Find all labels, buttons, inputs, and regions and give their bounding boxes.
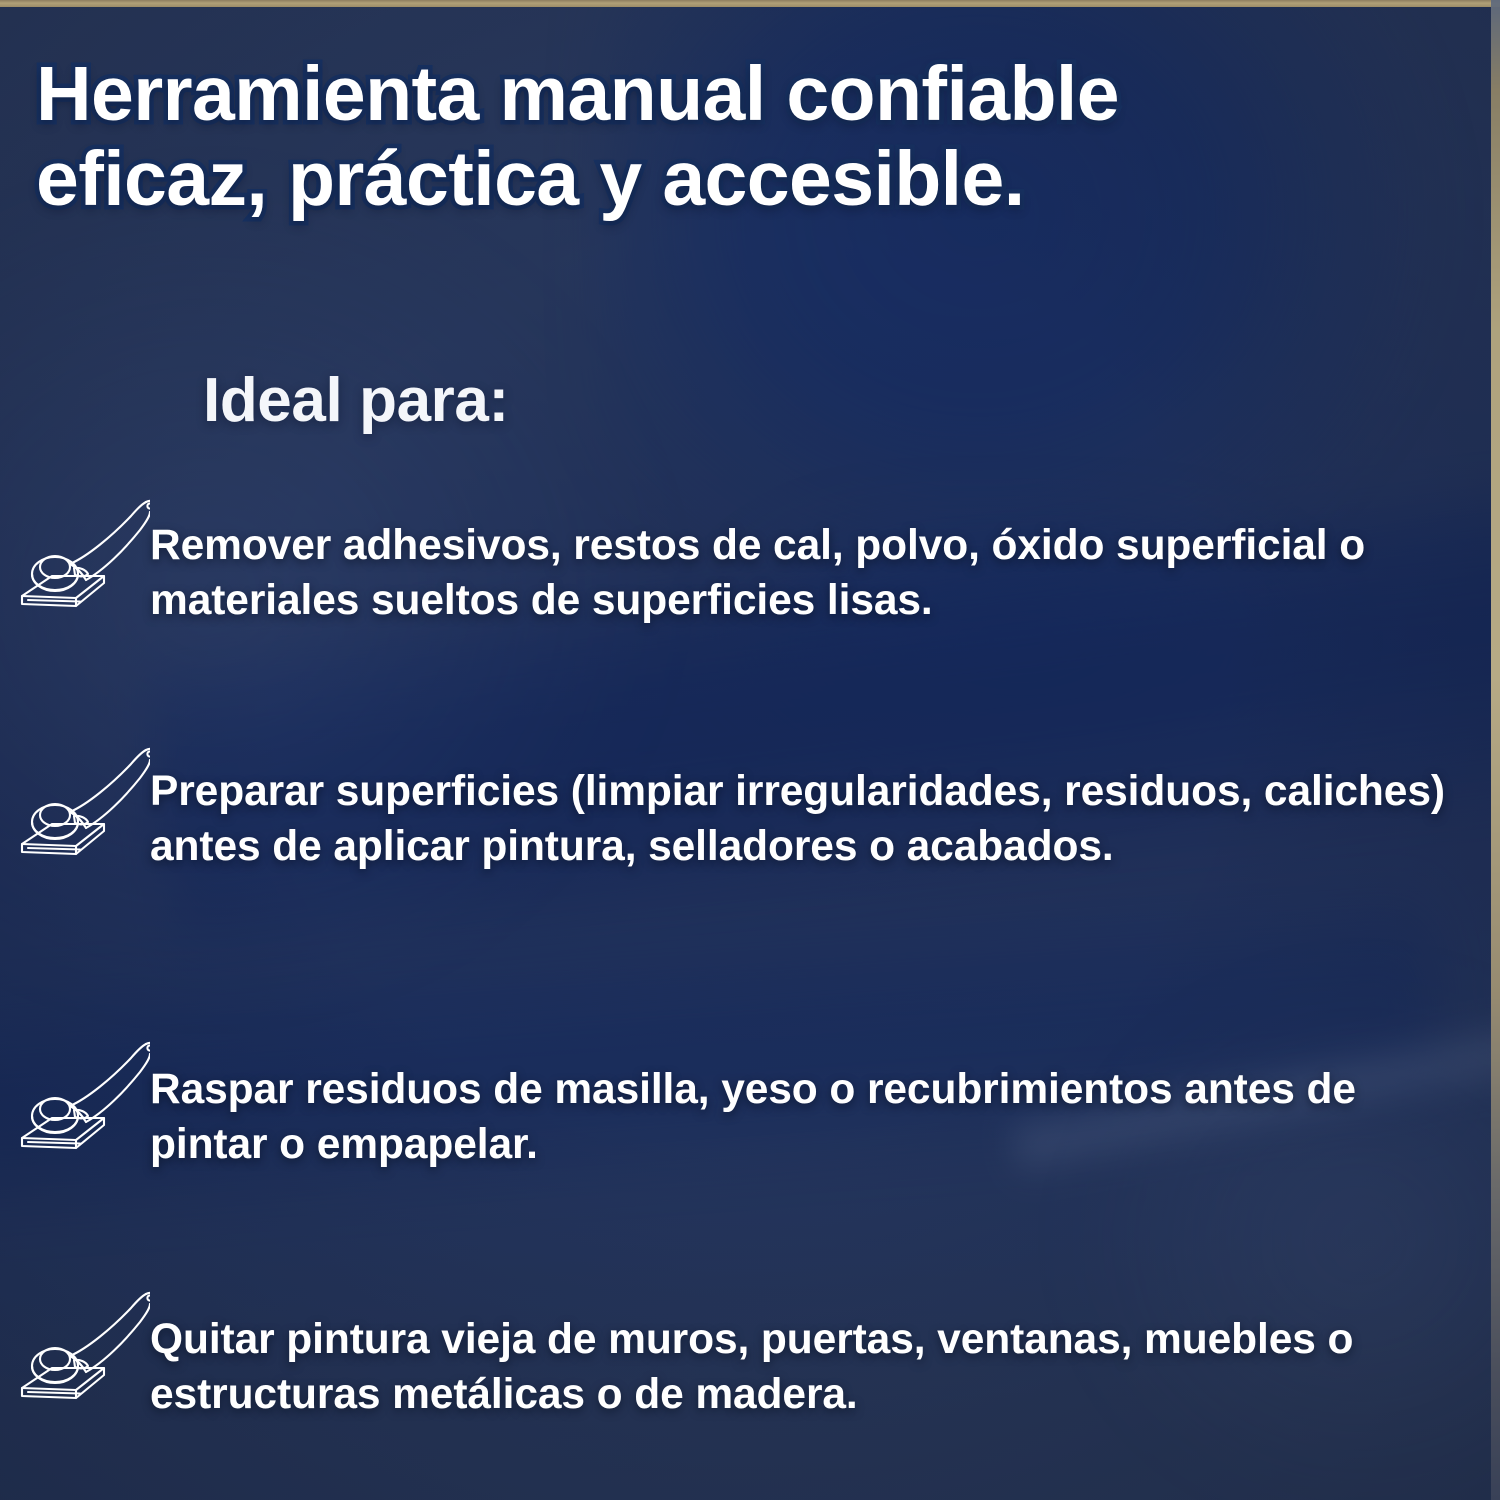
list-item: Remover adhesivos, restos de cal, polvo,… [0,476,1500,716]
list-item: Preparar superficies (limpiar irregulari… [0,716,1500,1008]
poster-content: Herramienta manual confiable eficaz, prá… [0,0,1500,1500]
list-item: Raspar residuos de masilla, yeso o recub… [0,1008,1500,1258]
promo-poster: Herramienta manual confiable eficaz, prá… [0,0,1500,1500]
paint-scraper-icon [0,1008,150,1160]
section-heading: Ideal para: [203,365,509,436]
paint-scraper-icon [0,1258,150,1410]
list-item-text: Raspar residuos de masilla, yeso o recub… [150,1008,1500,1173]
page-title-line-1: Herramienta manual confiable [36,52,1466,137]
page-title-line-2: eficaz, práctica y accesible. [36,137,1466,222]
paint-scraper-icon [0,716,150,866]
benefit-list: Remover adhesivos, restos de cal, polvo,… [0,476,1500,1498]
list-item-text: Preparar superficies (limpiar irregulari… [150,716,1500,875]
page-title: Herramienta manual confiable eficaz, prá… [36,52,1466,221]
list-item-text: Quitar pintura vieja de muros, puertas, … [150,1258,1500,1423]
list-item: Quitar pintura vieja de muros, puertas, … [0,1258,1500,1498]
paint-scraper-icon [0,476,150,618]
list-item-text: Remover adhesivos, restos de cal, polvo,… [150,476,1500,629]
